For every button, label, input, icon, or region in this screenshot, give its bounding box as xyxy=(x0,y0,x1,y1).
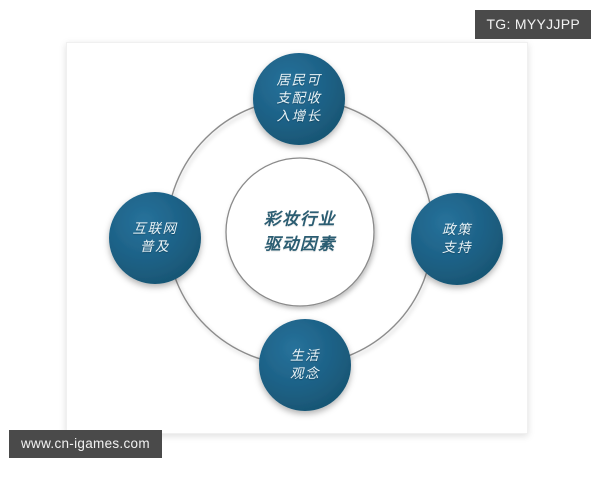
node-circle-bottom[interactable] xyxy=(259,319,351,411)
node-circle-right[interactable] xyxy=(411,193,503,285)
center-hub-circle xyxy=(226,158,374,306)
diagram-stage: 居民可 支配收 入增长 政策 支持 生活 观念 互联网 普及 彩妆行业 驱动因素 xyxy=(0,0,600,480)
node-circle-top[interactable] xyxy=(253,53,345,145)
circular-diagram xyxy=(0,0,600,480)
site-watermark-badge: www.cn-igames.com xyxy=(9,430,162,459)
telegram-watermark-badge: TG: MYYJJPP xyxy=(475,10,591,39)
node-circle-left[interactable] xyxy=(109,192,201,284)
